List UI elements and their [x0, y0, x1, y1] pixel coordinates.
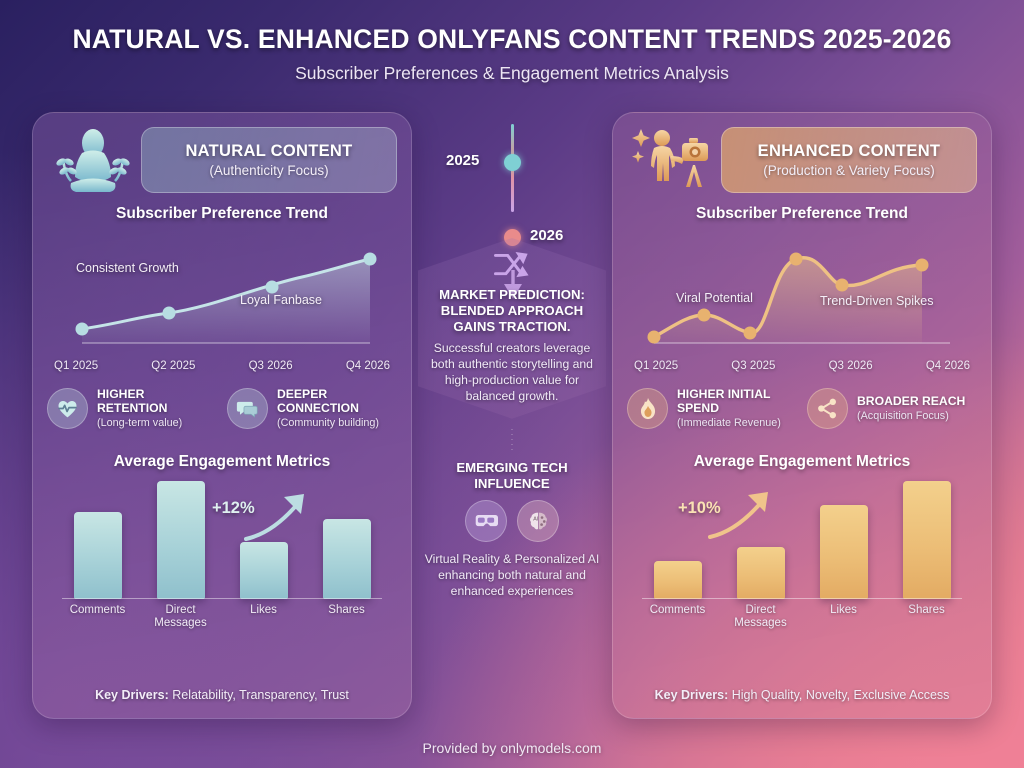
enhanced-trend-axis: Q1 2025 Q3 2025 Q3 2026 Q4 2026 — [632, 360, 972, 372]
bar-label: Direct Messages — [148, 604, 214, 630]
axis-tick: Q3 2026 — [249, 360, 293, 372]
feature-deeper-connection: DEEPER CONNECTION (Community building) — [227, 388, 397, 429]
photographer-camera-icon — [629, 123, 717, 197]
bar-baseline — [642, 598, 962, 600]
bar-likes — [820, 505, 868, 599]
natural-trend-title: Subscriber Preference Trend — [33, 205, 411, 223]
bar-shares — [323, 519, 371, 599]
natural-bar-labels: Comments Direct Messages Likes Shares — [56, 604, 388, 630]
enhanced-key-drivers: Key Drivers: High Quality, Novelty, Excl… — [613, 688, 991, 702]
enhanced-metrics-title: Average Engagement Metrics — [613, 453, 991, 471]
natural-panel-header: NATURAL CONTENT (Authenticity Focus) — [33, 113, 411, 205]
market-prediction-title: MARKET PREDICTION: BLENDED APPROACH GAIN… — [426, 287, 598, 335]
bar-label: Shares — [894, 604, 960, 630]
axis-tick: Q3 2026 — [829, 360, 873, 372]
feature-title: HIGHER RETENTION — [97, 388, 217, 415]
timeline-dot-2025 — [504, 154, 521, 171]
natural-engagement-bar-chart: +12% — [56, 481, 388, 599]
enhanced-annotation-2: Trend-Driven Spikes — [820, 294, 933, 308]
natural-preference-trend-chart: Consistent Growth Loyal Fanbase — [52, 237, 392, 357]
enhanced-preference-trend-chart: Viral Potential Trend-Driven Spikes — [632, 237, 972, 357]
axis-tick: Q4 2026 — [346, 360, 390, 372]
feature-text: BROADER REACH (Acquisition Focus) — [857, 395, 965, 422]
growth-arrow-icon — [706, 487, 778, 543]
bar-label: Comments — [645, 604, 711, 630]
natural-metrics-title: Average Engagement Metrics — [33, 453, 411, 471]
natural-annotation-2: Loyal Fanbase — [240, 293, 322, 307]
axis-tick: Q4 2026 — [926, 360, 970, 372]
enhanced-badge-title: ENHANCED CONTENT — [758, 142, 941, 161]
header: NATURAL VS. ENHANCED ONLYFANS CONTENT TR… — [0, 24, 1024, 84]
feature-title: BROADER REACH — [857, 395, 965, 409]
timeline-year-start: 2025 — [446, 152, 479, 169]
natural-content-panel: NATURAL CONTENT (Authenticity Focus) Sub… — [32, 112, 412, 719]
feature-subtitle: (Acquisition Focus) — [857, 410, 965, 422]
feature-text: HIGHER INITIAL SPEND (Immediate Revenue) — [677, 388, 797, 428]
feature-higher-retention: HIGHER RETENTION (Long-term value) — [47, 388, 217, 429]
natural-trend-axis: Q1 2025 Q2 2025 Q3 2026 Q4 2026 — [52, 360, 392, 372]
natural-key-drivers: Key Drivers: Relatability, Transparency,… — [33, 688, 411, 702]
emerging-tech-body: Virtual Reality & Personalized AI enhanc… — [418, 552, 606, 600]
bar-label: Direct Messages — [728, 604, 794, 630]
feature-text: HIGHER RETENTION (Long-term value) — [97, 388, 217, 428]
bar-label: Comments — [65, 604, 131, 630]
timeline-year-end: 2026 — [530, 227, 563, 244]
natural-badge: NATURAL CONTENT (Authenticity Focus) — [141, 127, 397, 193]
footer-credit: Provided by onlymodels.com — [0, 740, 1024, 756]
enhanced-bar-labels: Comments Direct Messages Likes Shares — [636, 604, 968, 630]
feature-subtitle: (Long-term value) — [97, 417, 217, 429]
shuffle-arrows-icon — [492, 250, 532, 280]
svg-text:AI: AI — [533, 517, 538, 523]
timeline: 2025 2026 — [418, 112, 606, 232]
ai-brain-icon: AI — [517, 500, 559, 542]
key-drivers-value: Relatability, Transparency, Trust — [172, 688, 349, 702]
market-prediction-body: Successful creators leverage both authen… — [426, 341, 598, 404]
share-network-icon — [807, 388, 848, 429]
feature-title: DEEPER CONNECTION — [277, 388, 397, 415]
bar-shares — [903, 481, 951, 599]
bar-comments — [74, 512, 122, 599]
page-title: NATURAL VS. ENHANCED ONLYFANS CONTENT TR… — [0, 24, 1024, 55]
natural-annotation-1: Consistent Growth — [76, 261, 179, 275]
enhanced-features: HIGHER INITIAL SPEND (Immediate Revenue)… — [613, 372, 991, 429]
enhanced-badge: ENHANCED CONTENT (Production & Variety F… — [721, 127, 977, 193]
natural-badge-subtitle: (Authenticity Focus) — [209, 163, 328, 178]
page-subtitle: Subscriber Preferences & Engagement Metr… — [0, 63, 1024, 84]
bar-comments — [654, 561, 702, 599]
feature-broader-reach: BROADER REACH (Acquisition Focus) — [807, 388, 977, 429]
axis-tick: Q3 2025 — [731, 360, 775, 372]
meditating-woman-icon — [49, 123, 137, 197]
bar-direct-messages — [157, 481, 205, 599]
enhanced-trend-title: Subscriber Preference Trend — [613, 205, 991, 223]
bar-baseline — [62, 598, 382, 600]
axis-tick: Q1 2025 — [54, 360, 98, 372]
flame-icon — [627, 388, 668, 429]
natural-badge-title: NATURAL CONTENT — [185, 142, 352, 161]
feature-subtitle: (Community building) — [277, 417, 397, 429]
axis-tick: Q2 2025 — [151, 360, 195, 372]
heart-pulse-icon — [47, 388, 88, 429]
axis-tick: Q1 2025 — [634, 360, 678, 372]
enhanced-panel-header: ENHANCED CONTENT (Production & Variety F… — [613, 113, 991, 205]
enhanced-engagement-bar-chart: +10% — [636, 481, 968, 599]
chat-bubbles-icon — [227, 388, 268, 429]
market-prediction-box: MARKET PREDICTION: BLENDED APPROACH GAIN… — [418, 238, 606, 419]
enhanced-content-panel: ENHANCED CONTENT (Production & Variety F… — [612, 112, 992, 719]
key-drivers-label: Key Drivers: — [655, 688, 729, 702]
bar-direct-messages — [737, 547, 785, 599]
enhanced-annotation-1: Viral Potential — [676, 291, 753, 305]
enhanced-badge-subtitle: (Production & Variety Focus) — [763, 163, 935, 178]
key-drivers-label: Key Drivers: — [95, 688, 169, 702]
bar-label: Likes — [231, 604, 297, 630]
key-drivers-value: High Quality, Novelty, Exclusive Access — [732, 688, 950, 702]
feature-title: HIGHER INITIAL SPEND — [677, 388, 797, 415]
bar-likes — [240, 542, 288, 599]
growth-arrow-icon — [242, 489, 314, 545]
emerging-tech-icons: AI — [418, 500, 606, 542]
center-column: 2025 2026 MARKET PREDICTION: BLENDED APP… — [418, 112, 606, 732]
feature-text: DEEPER CONNECTION (Community building) — [277, 388, 397, 428]
infographic-canvas: NATURAL VS. ENHANCED ONLYFANS CONTENT TR… — [0, 0, 1024, 768]
feature-subtitle: (Immediate Revenue) — [677, 417, 797, 429]
bar-label: Likes — [811, 604, 877, 630]
bar-label: Shares — [314, 604, 380, 630]
feature-higher-initial-spend: HIGHER INITIAL SPEND (Immediate Revenue) — [627, 388, 797, 429]
vr-headset-icon — [465, 500, 507, 542]
natural-features: HIGHER RETENTION (Long-term value) DEEPE… — [33, 372, 411, 429]
dotted-connector: ····· — [418, 427, 606, 452]
emerging-tech-title: EMERGING TECH INFLUENCE — [418, 460, 606, 492]
